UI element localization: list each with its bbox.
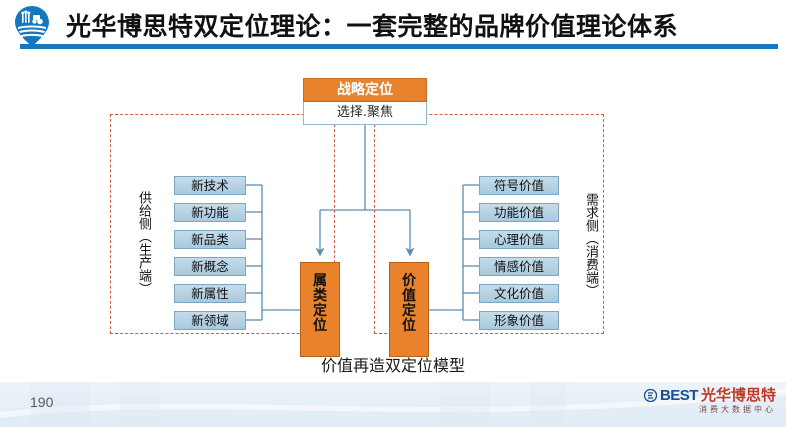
category-positioning-line-3: 位 — [301, 319, 339, 334]
brand-subtitle: 消费大数据中心 — [644, 406, 776, 414]
diagram-canvas: 战略定位 选择.聚焦 供给侧（生产端） 新技术 新功能 新品类 新概念 新属性 … — [0, 52, 786, 382]
category-positioning-line-2: 定 — [301, 304, 339, 319]
supply-item-3: 新概念 — [174, 257, 246, 276]
supply-item-4: 新属性 — [174, 284, 246, 303]
value-positioning-line-3: 位 — [390, 319, 428, 334]
demand-item-4: 文化价值 — [479, 284, 559, 303]
slide-footer: 190 BEST 光华博思特 消费大数据中心 — [0, 382, 786, 427]
demand-item-2: 心理价值 — [479, 230, 559, 249]
strategy-positioning-title: 战略定位 — [303, 78, 427, 102]
value-positioning-box: 价 值 定 位 — [389, 262, 429, 357]
category-positioning-line-0: 属 — [301, 274, 339, 289]
strategy-positioning-box: 战略定位 选择.聚焦 — [303, 78, 427, 125]
brand-name: 光华博思特 — [701, 388, 776, 403]
brand-mark: BEST — [660, 388, 698, 403]
strategy-positioning-subtitle: 选择.聚焦 — [303, 102, 427, 125]
value-positioning-line-2: 定 — [390, 304, 428, 319]
demand-item-1: 功能价值 — [479, 203, 559, 222]
location-pin-farm-icon — [10, 4, 54, 48]
slide: 光华博思特双定位理论：一套完整的品牌价值理论体系 — [0, 0, 786, 427]
header-divider — [20, 44, 778, 49]
supply-item-2: 新品类 — [174, 230, 246, 249]
value-positioning-line-1: 值 — [390, 289, 428, 304]
category-positioning-line-1: 类 — [301, 289, 339, 304]
page-title: 光华博思特双定位理论：一套完整的品牌价值理论体系 — [66, 7, 678, 43]
category-positioning-box: 属 类 定 位 — [300, 262, 340, 357]
demand-item-0: 符号价值 — [479, 176, 559, 195]
page-number: 190 — [30, 394, 53, 410]
slide-header: 光华博思特双定位理论：一套完整的品牌价值理论体系 — [0, 0, 786, 52]
brand-logo: BEST 光华博思特 消费大数据中心 — [644, 388, 776, 414]
demand-side-label: 需求侧（消费端） — [578, 180, 598, 310]
diagram-caption: 价值再造双定位模型 — [0, 352, 786, 376]
value-positioning-line-0: 价 — [390, 274, 428, 289]
demand-item-5: 形象价值 — [479, 311, 559, 330]
demand-item-3: 情感价值 — [479, 257, 559, 276]
supply-item-0: 新技术 — [174, 176, 246, 195]
brand-circle-icon — [644, 389, 657, 402]
supply-side-label: 供给侧（生产端） — [131, 178, 151, 308]
supply-item-1: 新功能 — [174, 203, 246, 222]
supply-item-5: 新领域 — [174, 311, 246, 330]
